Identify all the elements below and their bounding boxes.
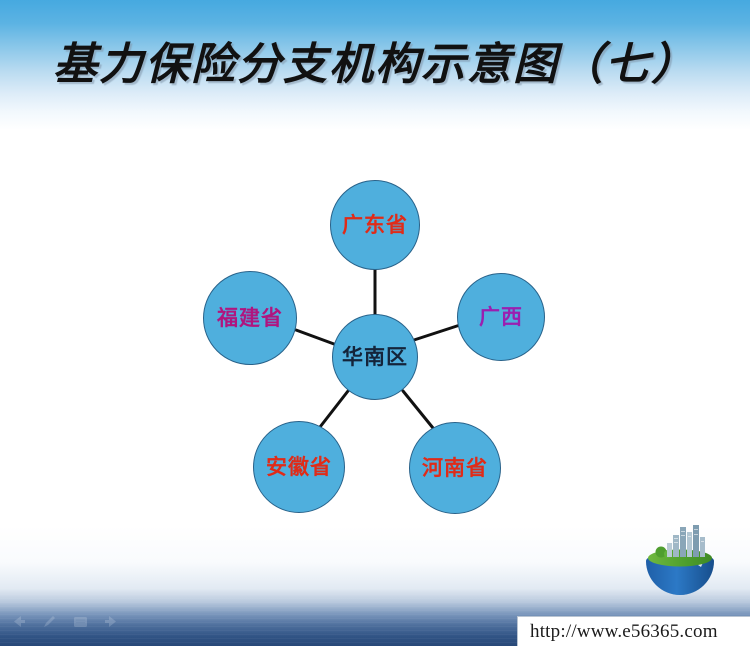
node-label: 广东省 — [342, 214, 408, 236]
presentation-slide: 基力保险分支机构示意图（七） 华南区 广东省 广西 福建省 安徽省 河南省 — [0, 0, 750, 646]
pen-icon[interactable] — [41, 614, 58, 629]
slide-title: 基力保险分支机构示意图（七） — [0, 28, 750, 92]
node-label: 广西 — [479, 306, 523, 328]
next-slide-icon[interactable] — [103, 614, 120, 629]
node-label: 安徽省 — [266, 456, 332, 478]
watermark-url[interactable]: http://www.e56365.com — [530, 621, 718, 643]
node-label: 福建省 — [217, 307, 283, 329]
node-branch-guangxi[interactable]: 广西 — [457, 273, 545, 361]
earth-city-globe-icon — [643, 523, 717, 611]
node-label: 河南省 — [422, 457, 488, 479]
node-label: 华南区 — [342, 346, 408, 368]
node-branch-guangdong[interactable]: 广东省 — [330, 180, 420, 270]
previous-slide-icon[interactable] — [10, 614, 27, 629]
watermark-bar: http://www.e56365.com — [517, 616, 750, 646]
node-hub-huanan[interactable]: 华南区 — [332, 314, 418, 400]
node-branch-fujian[interactable]: 福建省 — [203, 271, 297, 365]
menu-icon[interactable] — [72, 614, 89, 629]
node-branch-henan[interactable]: 河南省 — [409, 422, 501, 514]
slideshow-controls[interactable] — [10, 614, 120, 629]
node-branch-anhui[interactable]: 安徽省 — [253, 421, 345, 513]
